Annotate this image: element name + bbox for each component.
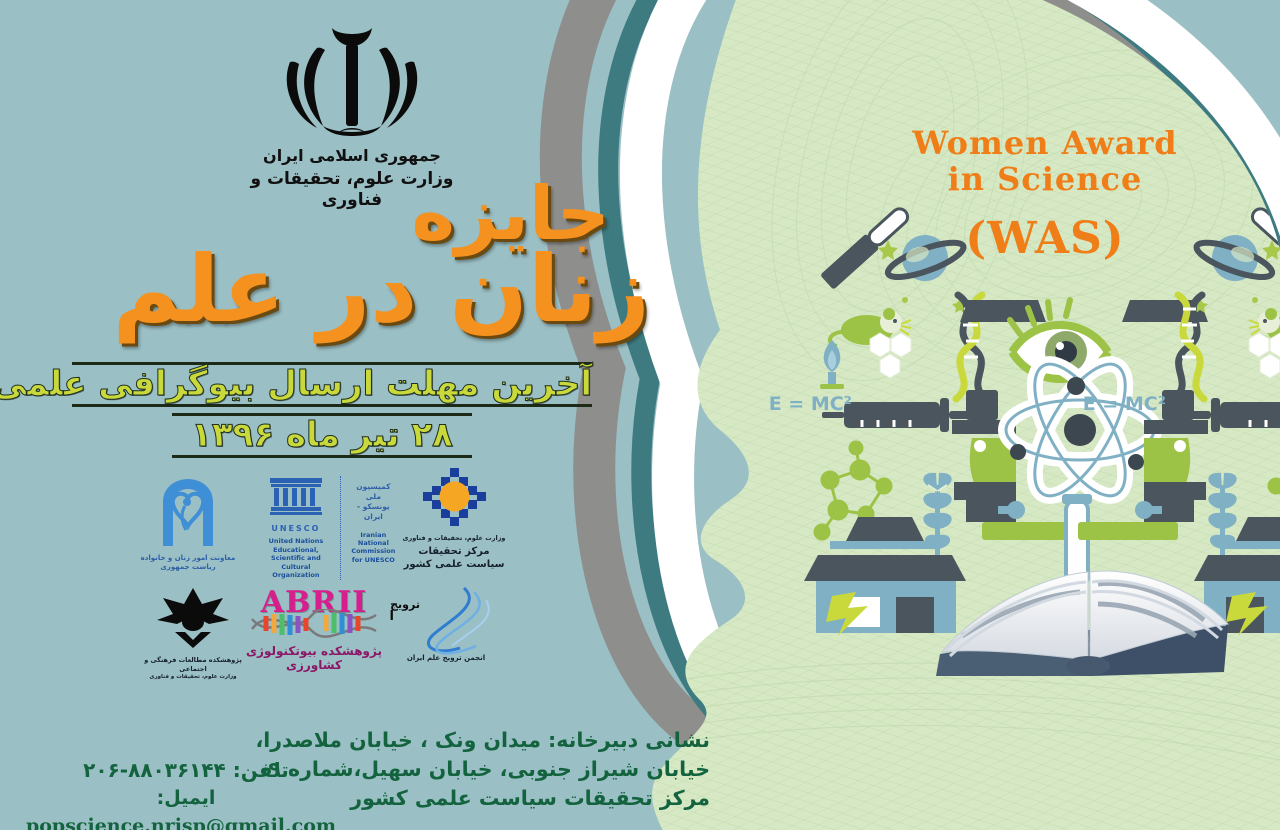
logo-women-caption2: ریاست جمهوری bbox=[140, 563, 236, 572]
star-person-logo-icon bbox=[157, 588, 229, 650]
unesco-wordmark: UNESCO bbox=[258, 524, 334, 534]
abrii-caption: پژوهشکده بیوتکنولوژی کشاورزی bbox=[246, 644, 382, 672]
unesco-caption-fa1: کمیسیون ملی bbox=[349, 482, 398, 502]
logo-icsr: پژوهشکده مطالعات فرهنگی و اجتماعی وزارت … bbox=[140, 588, 246, 681]
open-book-icon bbox=[936, 571, 1228, 676]
phone-label: تلفن: bbox=[233, 758, 289, 782]
blue-swoosh-icon: انجمن ترویج bbox=[390, 586, 502, 656]
logo-women-caption1: معاونت امور زنان و خانواده bbox=[140, 554, 236, 563]
logo-unesco: UNESCO United Nations Educational, Scien… bbox=[258, 476, 398, 580]
logo-icsr-caption1: پژوهشکده مطالعات فرهنگی و اجتماعی bbox=[140, 656, 246, 674]
english-title-line2: in Science bbox=[880, 162, 1210, 198]
phone-row: تلفن: ۸۸۰۳۶۱۴۴-۲۰۶ bbox=[36, 756, 336, 785]
logo-ispa: انجمن ترویج انجمن ترویج علم ایران bbox=[386, 586, 506, 663]
logo-nrisp-caption2: مرکز تحقیقات سیاست علمی کشور bbox=[398, 545, 510, 572]
english-title-block: Women Award in Science (WAS) bbox=[880, 126, 1210, 263]
svg-text:انجمن: انجمن bbox=[390, 609, 394, 624]
english-title-acronym: (WAS) bbox=[880, 214, 1210, 263]
logo-abrii: ABRII پژوهشکده بیوتکنولوژی کشاورزی bbox=[246, 588, 382, 672]
logo-women-family-affairs: معاونت امور زنان و خانواده ریاست جمهوری bbox=[140, 476, 236, 573]
deadline-block: آخرین مهلت ارسال بیوگرافی علمی و مستندات… bbox=[72, 362, 592, 458]
english-title-line1: Women Award bbox=[880, 126, 1210, 162]
emblem-country-label: جمهوری اسلامی ایران bbox=[232, 146, 472, 166]
phone-value: ۸۸۰۳۶۱۴۴-۲۰۶ bbox=[83, 758, 226, 782]
iran-emblem-icon bbox=[277, 22, 427, 142]
contact-block: تلفن: ۸۸۰۳۶۱۴۴-۲۰۶ ایمیل: popscience.nri… bbox=[36, 756, 336, 830]
email-row: ایمیل: popscience.nrisp@gmail.com bbox=[36, 785, 336, 830]
address-block: نشانی دبیرخانه: میدان ونک ، خیابان ملاصد… bbox=[290, 726, 710, 813]
deadline-line1: آخرین مهلت ارسال بیوگرافی علمی و مستندات bbox=[72, 362, 592, 407]
mother-child-logo-icon bbox=[155, 476, 221, 550]
unesco-caption-en: United Nations Educational, Scientific a… bbox=[258, 537, 334, 579]
svg-text:ترویج: ترویج bbox=[390, 598, 420, 611]
persian-title-line2: زنان در علم bbox=[50, 245, 650, 335]
svg-text:E = MC²: E = MC² bbox=[1083, 393, 1166, 415]
persian-title-block: جایزه زنان در علم bbox=[50, 178, 650, 335]
address-line-1: نشانی دبیرخانه: میدان ونک ، خیابان ملاصد… bbox=[290, 726, 710, 755]
address-line-2: خیابان شیراز جنوبی، خیابان سهیل،شماره ۹، bbox=[290, 755, 710, 784]
email-label: ایمیل: bbox=[157, 785, 216, 813]
logo-icsr-caption2: وزارت علوم، تحقیقات و فناوری bbox=[140, 674, 246, 681]
deadline-line2: ۲۸ تیر ماه ۱۳۹۶ bbox=[172, 413, 472, 458]
dna-helix-icon bbox=[250, 609, 378, 639]
logo-nrisp: وزارت علوم، تحقیقات و فناوری مرکز تحقیقا… bbox=[398, 466, 510, 572]
address-line-3: مرکز تحقیقات سیاست علمی کشور bbox=[290, 784, 710, 813]
unesco-caption-en2: Iranian National Commission for UNESCO bbox=[349, 531, 398, 565]
svg-text:E = MC²: E = MC² bbox=[769, 393, 852, 415]
blue-diamond-sun-icon bbox=[418, 466, 490, 528]
logo-nrisp-caption1: وزارت علوم، تحقیقات و فناوری bbox=[398, 534, 510, 543]
poster-canvas: E = MC² bbox=[0, 0, 1280, 830]
unesco-temple-icon bbox=[270, 476, 322, 516]
unesco-caption-fa2: یونسکو - ایران bbox=[349, 502, 398, 522]
email-value[interactable]: popscience.nrisp@gmail.com bbox=[26, 813, 336, 830]
